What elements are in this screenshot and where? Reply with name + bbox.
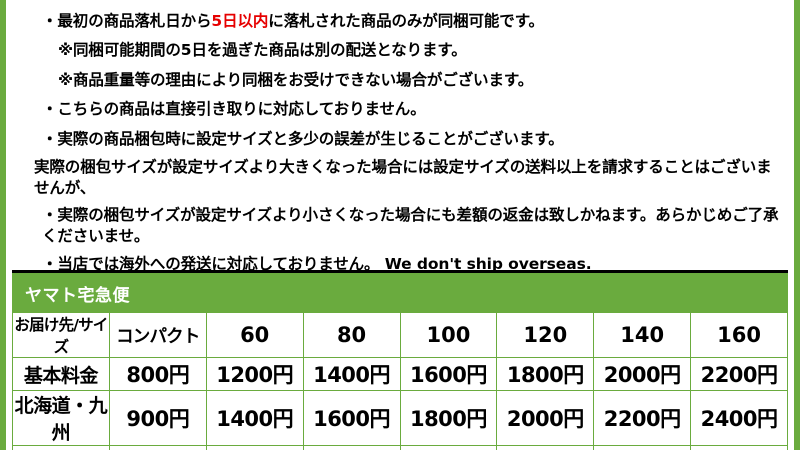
notice-section: ・最初の商品落札日から5日以内に落札された商品のみが同梱可能です。※同梱可能期間… [6, 0, 794, 268]
notice-text: ・こちらの商品は直接引き取りに対応しておりません。 [42, 100, 426, 118]
column-header-row: お届け先/サイズコンパクト6080100120140160 [13, 313, 788, 358]
rate-cell: 2900円 [497, 446, 594, 450]
notice-text: ※商品重量等の理由により同梱をお受けできない場合がございます。 [58, 71, 533, 89]
notice-text: ・最初の商品落札日から [42, 12, 211, 30]
shipping-info-panel: ・最初の商品落札日から5日以内に落札された商品のみが同梱可能です。※同梱可能期間… [0, 0, 800, 450]
column-header-7: 160 [691, 313, 788, 358]
rate-cell: 3400円 [594, 446, 691, 450]
rate-cell: 2000円 [497, 391, 594, 446]
notice-text: ・実際の梱包サイズが設定サイズより小さくなった場合にも差額の返金は致しかねます。… [42, 206, 778, 245]
carrier-name: ヤマト宅急便 [13, 274, 788, 313]
rate-cell: 1600円 [303, 391, 400, 446]
table-row: 北海道・九州900円1400円1600円1800円2000円2200円2400円 [13, 391, 788, 446]
column-header-2: 60 [206, 313, 303, 358]
notice-line: ・実際の梱包サイズが設定サイズより小さくなった場合にも差額の返金は致しかねます。… [20, 205, 780, 247]
rate-cell: 900円 [109, 446, 206, 450]
row-label: 沖縄県 [13, 446, 110, 450]
rate-cell: 1600円 [400, 358, 497, 391]
column-header-3: 80 [303, 313, 400, 358]
rate-cell: 1200円 [206, 358, 303, 391]
notice-line: ※同梱可能期間の5日を過ぎた商品は別の配送となります。 [20, 39, 780, 61]
column-header-1: コンパクト [109, 313, 206, 358]
rate-cell: 2000円 [594, 358, 691, 391]
notice-text: 実際の梱包サイズが設定サイズより大きくなった場合には設定サイズの送料以上を請求す… [34, 158, 772, 197]
rate-cell: 800円 [109, 358, 206, 391]
notice-highlight-text: 5日以内 [211, 12, 268, 30]
table-row: 基本料金800円1200円1400円1600円1800円2000円2200円 [13, 358, 788, 391]
carrier-header-row: ヤマト宅急便 [13, 274, 788, 313]
rate-cell: 1900円 [303, 446, 400, 450]
row-label: 北海道・九州 [13, 391, 110, 446]
rate-cell: 2400円 [691, 391, 788, 446]
column-header-4: 100 [400, 313, 497, 358]
column-header-5: 120 [497, 313, 594, 358]
notice-line: ※商品重量等の理由により同梱をお受けできない場合がございます。 [20, 69, 780, 91]
rate-cell: 1800円 [400, 391, 497, 446]
rate-cell: 1400円 [206, 391, 303, 446]
rate-cell: 2200円 [594, 391, 691, 446]
rate-cell: 900円 [109, 391, 206, 446]
row-label: 基本料金 [13, 358, 110, 391]
notice-text: ※同梱可能期間の5日を過ぎた商品は別の配送となります。 [58, 41, 467, 59]
rate-cell: 2200円 [691, 358, 788, 391]
notice-line: 実際の梱包サイズが設定サイズより大きくなった場合には設定サイズの送料以上を請求す… [20, 157, 780, 199]
notice-line: ・最初の商品落札日から5日以内に落札された商品のみが同梱可能です。 [20, 10, 780, 32]
notice-line: ・実際の商品梱包時に設定サイズと多少の誤差が生じることがございます。 [20, 128, 780, 150]
notice-line: ・こちらの商品は直接引き取りに対応しておりません。 [20, 98, 780, 120]
notice-text: ・実際の商品梱包時に設定サイズと多少の誤差が生じることがございます。 [42, 130, 564, 148]
rate-cell: 2400円 [400, 446, 497, 450]
rate-cell: 1800円 [497, 358, 594, 391]
rate-cell: 3900円 [691, 446, 788, 450]
column-header-0: お届け先/サイズ [13, 313, 110, 358]
table-row: 沖縄県900円1400円1900円2400円2900円3400円3900円 [13, 446, 788, 450]
notice-text: に落札された商品のみが同梱可能です。 [268, 12, 544, 30]
shipping-rate-table-wrapper: ヤマト宅急便 お届け先/サイズコンパクト6080100120140160 基本料… [12, 270, 788, 442]
rate-cell: 1400円 [303, 358, 400, 391]
column-header-6: 140 [594, 313, 691, 358]
rate-cell: 1400円 [206, 446, 303, 450]
shipping-rate-table: ヤマト宅急便 お届け先/サイズコンパクト6080100120140160 基本料… [12, 273, 788, 450]
